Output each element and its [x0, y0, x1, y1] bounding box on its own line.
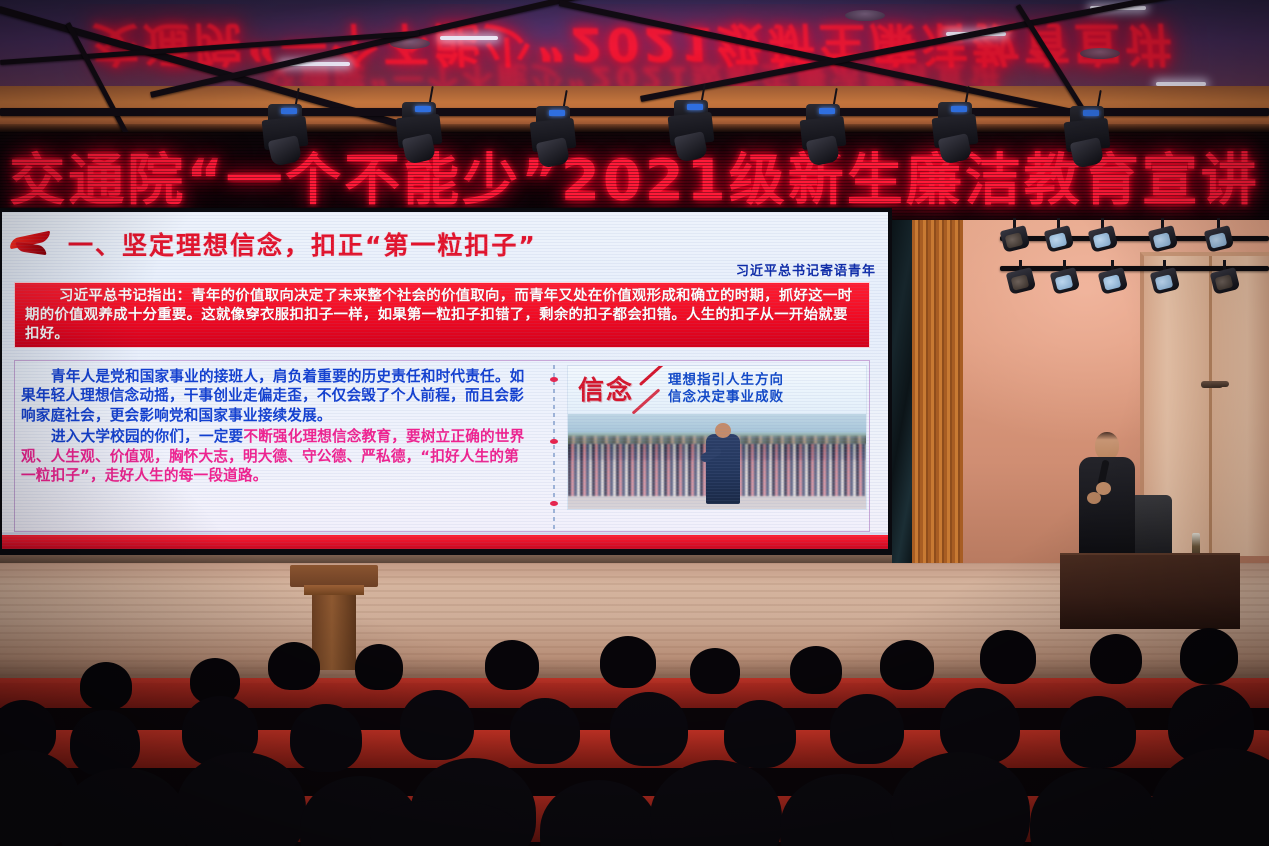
- ceiling-speaker-disc: [845, 10, 885, 21]
- moving-head-light: [396, 102, 442, 166]
- light-head: [268, 135, 303, 167]
- light-head: [938, 133, 973, 165]
- audience-head: [980, 630, 1036, 684]
- audience-head: [355, 644, 403, 690]
- audience-area: [0, 600, 1269, 846]
- red-ribbon-icon: [8, 231, 52, 257]
- moving-head-light: [932, 102, 978, 166]
- light-display-icon: [951, 106, 967, 112]
- picture-slogan: 理想指引人生方向 信念决定事业成败: [668, 372, 784, 406]
- light-head: [402, 133, 437, 165]
- slide-divider: [553, 365, 555, 529]
- audience-head: [1090, 634, 1142, 684]
- lectern-top: [290, 565, 378, 587]
- slide-title-row: 一、坚定理想信念，扣正“第一粒扣子”: [2, 226, 888, 262]
- audience-head: [70, 710, 140, 776]
- speaker-head: [1095, 432, 1119, 460]
- slide-title: 一、坚定理想信念，扣正“第一粒扣子”: [68, 226, 537, 262]
- audience-head: [790, 646, 842, 694]
- audience-head: [600, 636, 656, 688]
- par-can-light: [1150, 222, 1176, 252]
- slide-picture: 信念 理想指引人生方向 信念决定事业成败: [567, 365, 867, 510]
- par-can-light: [1152, 264, 1178, 294]
- picture-slogan-line-1: 理想指引人生方向: [668, 372, 784, 389]
- audience-head: [80, 662, 132, 710]
- moving-head-light: [262, 104, 308, 168]
- audience-head: [610, 692, 688, 766]
- moving-head-light: [530, 106, 576, 170]
- par-can-light: [1090, 222, 1116, 252]
- light-display-icon: [281, 108, 297, 114]
- par-can-light: [1212, 264, 1238, 294]
- moving-head-light: [668, 100, 714, 164]
- light-head: [1070, 137, 1105, 169]
- light-head: [806, 135, 841, 167]
- picture-photo: [568, 414, 867, 510]
- par-can-light: [1206, 222, 1232, 252]
- picture-headline: 信念: [578, 370, 634, 407]
- light-display-icon: [819, 108, 835, 114]
- slide-paragraph-1: 青年人是党和国家事业的接班人，肩负着重要的历史责任和时代责任。如果年轻人理想信念…: [21, 367, 533, 425]
- lectern-neck: [304, 585, 364, 595]
- ceiling-strip-light: [440, 36, 498, 40]
- slide-bottom-red-bar: [2, 535, 888, 549]
- slide-paragraph-2: 进入大学校园的你们，一定要不断强化理想信念教育，要树立正确的世界观、人生观、价值…: [21, 427, 533, 485]
- ceiling-speaker-disc: [1080, 48, 1120, 59]
- auditorium-scene: 交通院“一个不能少”2021级新生廉洁教育宣讲 交通院“一个不能少”2021级新…: [0, 0, 1269, 846]
- audience-head: [60, 768, 188, 846]
- light-head: [536, 137, 571, 169]
- slide-attribution: 习近平总书记寄语青年: [736, 260, 876, 279]
- audience-head: [690, 648, 740, 694]
- audience-head: [1030, 768, 1160, 846]
- light-display-icon: [1083, 110, 1099, 116]
- divider-dot-icon: [550, 501, 558, 506]
- par-can-light: [1052, 264, 1078, 294]
- light-display-icon: [549, 110, 565, 116]
- audience-head: [724, 700, 796, 768]
- figure-head: [715, 423, 731, 438]
- par-can-light: [1002, 222, 1028, 252]
- audience-head: [268, 642, 320, 690]
- presentation-slide: 一、坚定理想信念，扣正“第一粒扣子” 习近平总书记寄语青年 习近平总书记指出：青…: [2, 212, 888, 549]
- speaker-person: [1075, 432, 1139, 557]
- audience-head: [880, 640, 934, 690]
- audience-head: [540, 780, 658, 846]
- slide-body-left: 青年人是党和国家事业的接班人，肩负着重要的历史责任和时代责任。如果年轻人理想信念…: [21, 367, 533, 487]
- light-display-icon: [687, 104, 703, 110]
- audience-head: [485, 640, 539, 690]
- par-can-light: [1008, 264, 1034, 294]
- audience-head: [1060, 696, 1136, 768]
- projection-screen: 一、坚定理想信念，扣正“第一粒扣子” 习近平总书记寄语青年 习近平总书记指出：青…: [0, 208, 892, 563]
- audience-head: [400, 690, 474, 760]
- audience-head: [290, 704, 362, 772]
- audience-head: [650, 760, 782, 846]
- photo-central-figure: [706, 434, 740, 504]
- slide-quote-text: 习近平总书记指出：青年的价值取向决定了未来整个社会的价值取向，而青年又处在价值观…: [25, 287, 859, 344]
- light-display-icon: [415, 106, 431, 112]
- speaker-hand: [1087, 492, 1101, 504]
- light-head: [674, 131, 709, 163]
- audience-head: [510, 698, 580, 764]
- par-can-light: [1046, 222, 1072, 252]
- audience-head: [830, 694, 904, 764]
- door-handle-icon[interactable]: [1211, 381, 1229, 387]
- audience-head: [1180, 628, 1238, 684]
- picture-slogan-line-2: 信念决定事业成败: [668, 389, 784, 406]
- par-can-light: [1100, 264, 1126, 294]
- audience-head: [780, 774, 904, 846]
- slide-quote-box: 习近平总书记指出：青年的价值取向决定了未来整个社会的价值取向，而青年又处在价值观…: [14, 282, 870, 348]
- wood-slat-wall: [912, 220, 966, 565]
- slide-paragraph-2-plain: 进入大学校园的你们，一定要: [51, 428, 243, 445]
- slide-body-box: 青年人是党和国家事业的接班人，肩负着重要的历史责任和时代责任。如果年轻人理想信念…: [14, 360, 870, 532]
- moving-head-light: [1064, 106, 1110, 170]
- divider-dot-icon: [550, 439, 558, 444]
- moving-head-light: [800, 104, 846, 168]
- divider-dot-icon: [550, 377, 558, 382]
